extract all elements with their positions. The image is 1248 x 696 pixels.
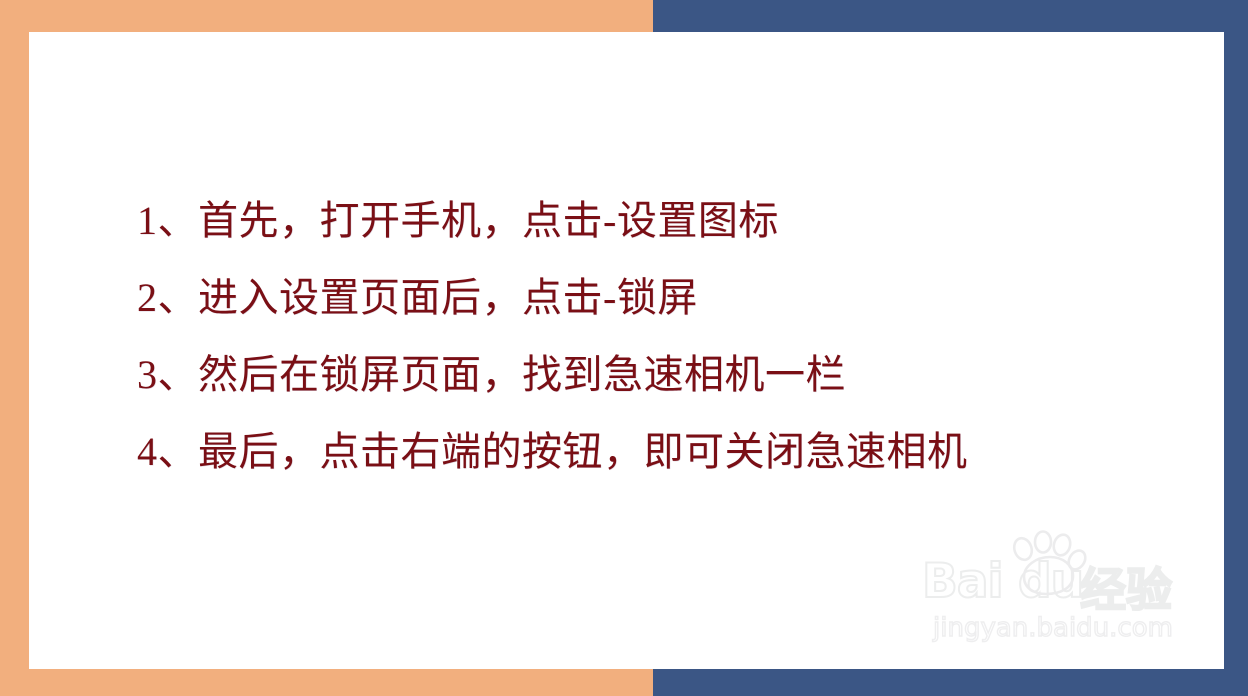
step-list-item: 1、首先，打开手机，点击-设置图标 (137, 182, 1177, 259)
border-band-top-left (0, 0, 653, 32)
baidu-jingyan-watermark: Bai du 经验 jingyan.baidu.com (918, 530, 1188, 645)
watermark-brand-cn: 经验 (1080, 554, 1172, 620)
border-band-top-right (653, 0, 1248, 32)
step-list-item: 2、进入设置页面后，点击-锁屏 (137, 259, 1177, 336)
border-band-bottom-left (0, 669, 653, 696)
paw-print-icon (1006, 530, 1088, 600)
watermark-brand-latin: Bai du (922, 554, 1083, 609)
slide-canvas: 1、首先，打开手机，点击-设置图标 2、进入设置页面后，点击-锁屏 3、然后在锁… (29, 32, 1224, 669)
step-list-item: 4、最后，点击右端的按钮，即可关闭急速相机 (137, 413, 1177, 490)
step-list: 1、首先，打开手机，点击-设置图标 2、进入设置页面后，点击-锁屏 3、然后在锁… (137, 182, 1177, 490)
slide: 1、首先，打开手机，点击-设置图标 2、进入设置页面后，点击-锁屏 3、然后在锁… (0, 0, 1248, 696)
border-band-right (1224, 32, 1248, 669)
watermark-logo-row: Bai du 经验 (918, 532, 1188, 604)
watermark-url: jingyan.baidu.com (918, 613, 1188, 643)
border-band-left (0, 32, 29, 669)
border-band-bottom-right (653, 669, 1248, 696)
step-list-item: 3、然后在锁屏页面，找到急速相机一栏 (137, 336, 1177, 413)
